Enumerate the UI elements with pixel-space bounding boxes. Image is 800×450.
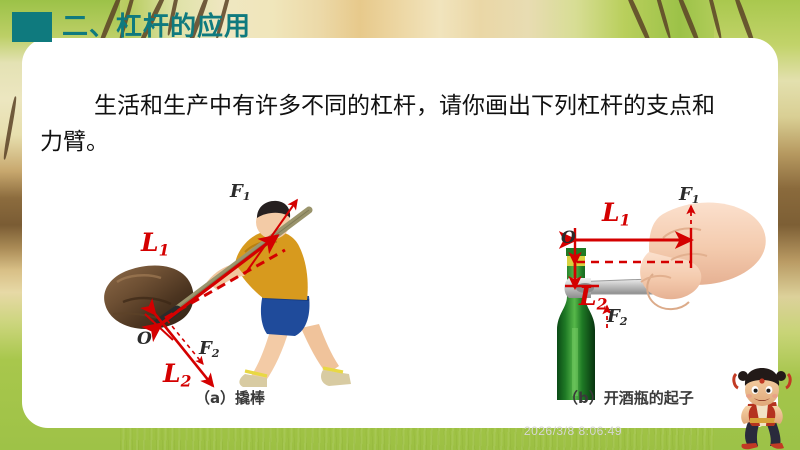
nezha-mascot	[730, 364, 794, 450]
crowbar-force2-label: F2	[199, 340, 220, 359]
body-paragraph: 生活和生产中有许多不同的杠杆，请你画出下列杠杆的支点和力臂。	[40, 88, 730, 160]
title-bullet-icon	[12, 12, 52, 42]
figure-crowbar: L1 F1 F2 L2 O （a）撬棒	[95, 178, 365, 408]
slide-canvas: 二、杠杆的应用 生活和生产中有许多不同的杠杆，请你画出下列杠杆的支点和力臂。	[0, 0, 800, 450]
rock-shape	[104, 265, 193, 329]
crowbar-arm2-label: L2	[163, 361, 191, 389]
crowbar-caption: （a）撬棒	[95, 387, 365, 408]
page-title: 二、杠杆的应用	[12, 12, 251, 42]
hand-shape	[640, 202, 766, 309]
timestamp-watermark: 2026/3/8 8:06:49	[524, 424, 622, 438]
crowbar-arm1-label: L1	[141, 230, 169, 258]
title-text: 二、杠杆的应用	[62, 12, 251, 42]
paragraph-text: 生活和生产中有许多不同的杠杆，请你画出下列杠杆的支点和力臂。	[40, 93, 715, 155]
opener-arm2-label: L2	[579, 284, 607, 312]
opener-force1-label: F1	[679, 186, 700, 205]
opener-arm1-label: L1	[602, 200, 630, 228]
opener-force2-label: F2	[607, 308, 628, 327]
opener-fulcrum-label: O	[561, 230, 576, 247]
crowbar-fulcrum-label: O	[137, 331, 152, 348]
force2-arrow	[167, 320, 203, 364]
crowbar-force1-label: F1	[230, 183, 251, 202]
crowbar-illustration	[95, 178, 365, 408]
